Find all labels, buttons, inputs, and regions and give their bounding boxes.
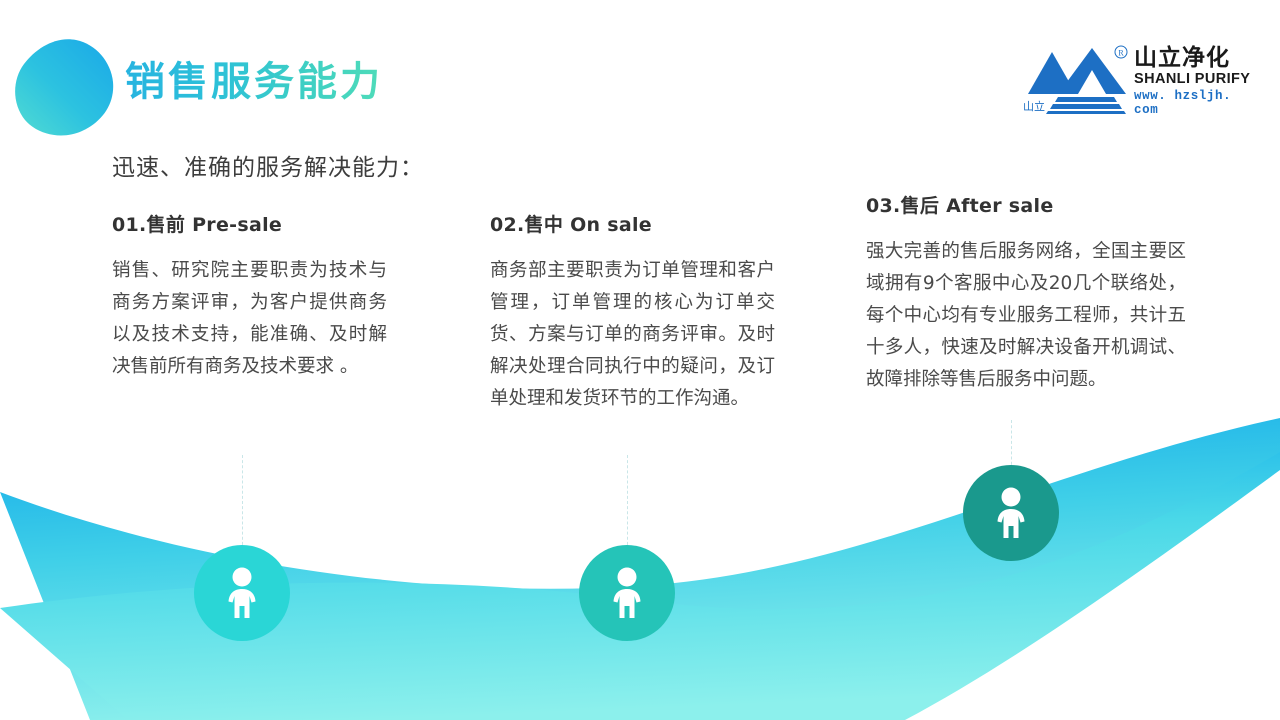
logo-mark-sublabel: 山立	[1023, 99, 1045, 113]
wave-bottom-white-cut	[905, 470, 1280, 720]
service-column-pre-sale: 01.售前 Pre-sale 销售、研究院主要职责为技术与商务方案评审，为客户提…	[112, 210, 387, 383]
column-body-after-sale: 强大完善的售后服务网络，全国主要区域拥有9个客服中心及20几个联络处，每个中心均…	[866, 236, 1186, 396]
connector-line-on-sale	[627, 455, 628, 550]
person-icon	[221, 566, 263, 620]
connector-line-pre-sale	[242, 455, 243, 550]
page-subtitle: 迅速、准确的服务解决能力：	[112, 148, 424, 182]
logo-company-cn: 山立净化	[1134, 46, 1262, 70]
connector-line-after-sale	[1011, 420, 1012, 470]
header-blob-icon	[14, 38, 114, 136]
badge-after-sale[interactable]	[963, 465, 1059, 561]
service-column-after-sale: 03.售后 After sale 强大完善的售后服务网络，全国主要区域拥有9个客…	[866, 191, 1186, 396]
column-heading-on-sale: 02.售中 On sale	[490, 210, 775, 237]
person-icon	[990, 486, 1032, 540]
column-body-pre-sale: 销售、研究院主要职责为技术与商务方案评审，为客户提供商务以及技术支持，能准确、及…	[112, 255, 387, 383]
badge-on-sale[interactable]	[579, 545, 675, 641]
logo-company-en: SHANLI PURIFY	[1134, 71, 1262, 88]
badge-pre-sale[interactable]	[194, 545, 290, 641]
shanli-mountain-mark-icon: R 山立	[1022, 44, 1134, 114]
company-logo: R 山立 山立净化 SHANLI PURIFY www. hzsljh. com	[1022, 44, 1262, 116]
service-column-on-sale: 02.售中 On sale 商务部主要职责为订单管理和客户管理，订单管理的核心为…	[490, 210, 775, 415]
logo-website[interactable]: www. hzsljh. com	[1134, 89, 1262, 118]
svg-text:R: R	[1118, 49, 1124, 58]
column-heading-pre-sale: 01.售前 Pre-sale	[112, 210, 387, 237]
page-title: 销售服务能力	[125, 58, 383, 106]
column-heading-after-sale: 03.售后 After sale	[866, 191, 1186, 218]
column-body-on-sale: 商务部主要职责为订单管理和客户管理，订单管理的核心为订单交货、方案与订单的商务评…	[490, 255, 775, 415]
logo-text-block: 山立净化 SHANLI PURIFY www. hzsljh. com	[1134, 46, 1262, 118]
person-icon	[606, 566, 648, 620]
slide-root: 销售服务能力 迅速、准确的服务解决能力： R 山立 山立净化 SHANLI PU…	[0, 0, 1280, 720]
